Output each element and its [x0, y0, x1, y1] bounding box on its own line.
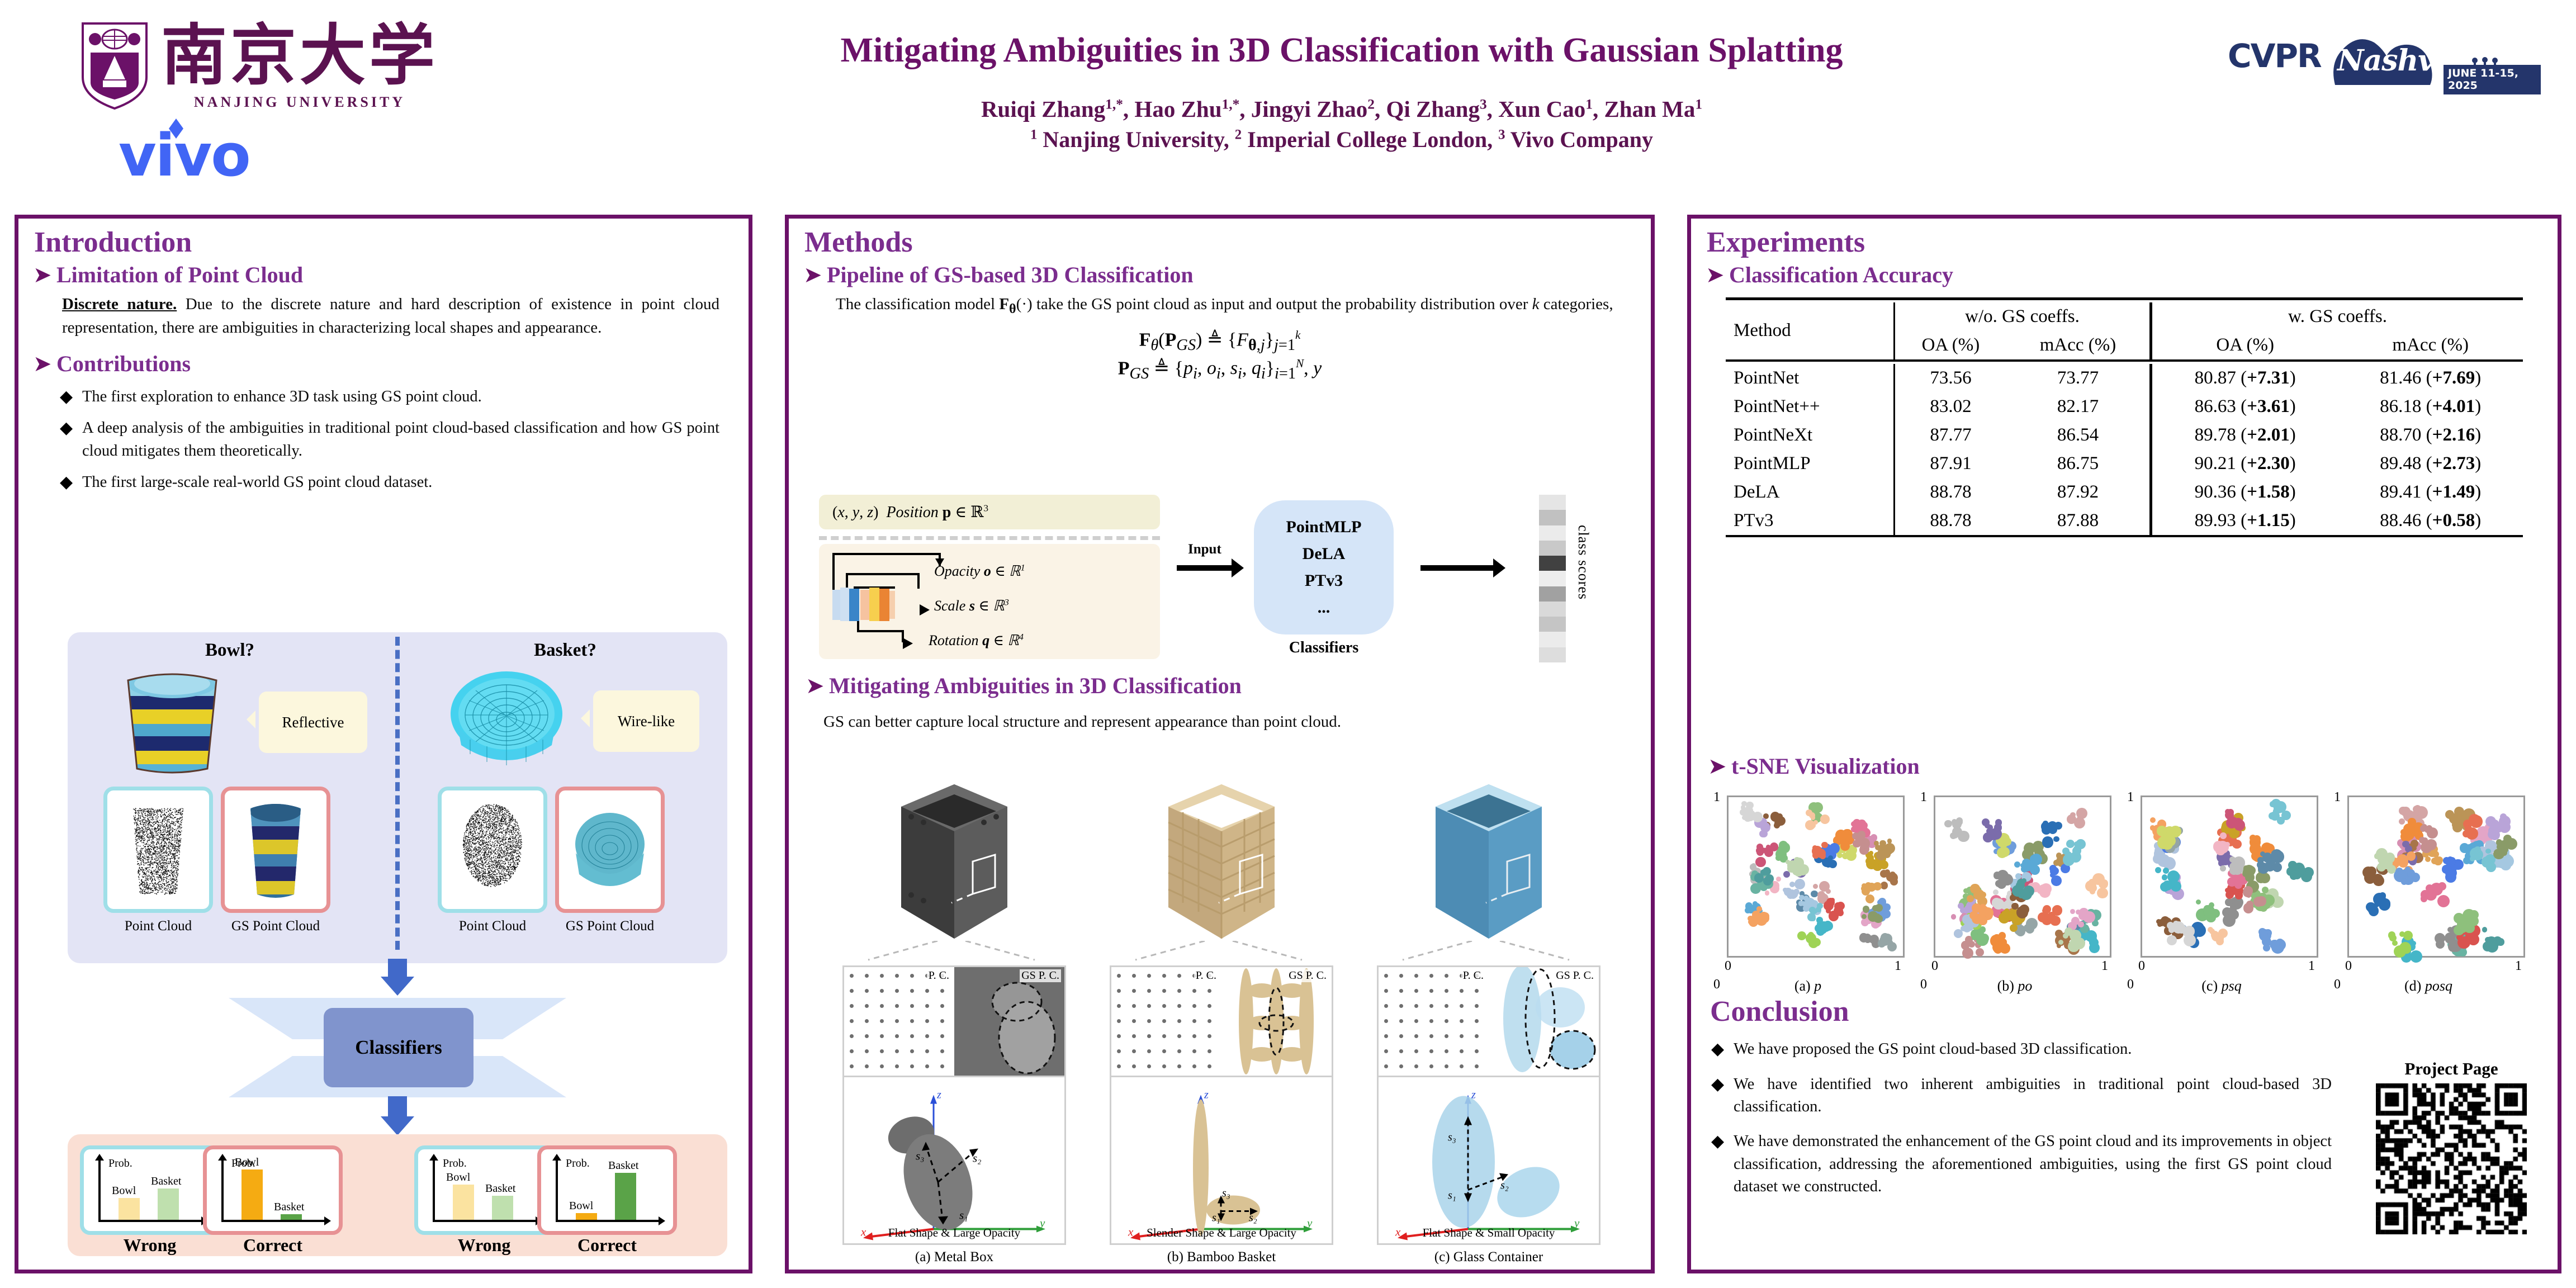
point-cloud-dot — [1162, 1049, 1166, 1053]
poster-root: 南京大学 NANJING UNIVERSITY vivo Mitigating … — [0, 0, 2576, 1288]
point-cloud-dot — [880, 1004, 884, 1008]
tsne-cluster-point — [1874, 915, 1883, 924]
tsne-cluster-point — [2425, 856, 2431, 862]
tsne-cluster-point — [1871, 883, 1876, 888]
subheading-limitation: ➤ Limitation of Point Cloud — [33, 263, 736, 288]
table-header-macc-wo: mAcc (%) — [2006, 331, 2151, 361]
tsne-plot-area — [1934, 795, 2111, 958]
conclusion-list: ◆ We have proposed the GS point cloud-ba… — [1700, 1035, 2337, 1199]
point-cloud-dot — [895, 1019, 899, 1023]
tsne-cluster-point — [2485, 849, 2491, 854]
point-cloud-dot — [1384, 1019, 1388, 1023]
table-header-oa-wo: OA (%) — [1894, 331, 2006, 361]
point-cloud-dot — [940, 1064, 944, 1068]
class-scores-label: class scores — [1575, 525, 1592, 600]
cell-macc-with: 86.18 (+4.01) — [2338, 392, 2523, 421]
conclusion-text: We have identified two inherent ambiguit… — [1734, 1073, 2332, 1119]
tsne-cluster-point — [1745, 907, 1751, 913]
cell-method: PointNet — [1726, 364, 1894, 392]
tsne-cluster-point — [1786, 860, 1790, 864]
prediction-bar-label: Basket — [485, 1182, 515, 1195]
cell-method: PointNeXt — [1726, 421, 1894, 449]
prob-axis-label: Prob. — [566, 1157, 590, 1170]
cvpr-date-badge: JUNE 11-15, 2025 — [2444, 65, 2541, 94]
table-row: DeLA88.7887.9290.36 (+1.58)89.41 (+1.49) — [1726, 478, 2523, 506]
point-cloud-dot — [1384, 989, 1388, 993]
tsne-cluster-point — [2493, 849, 2504, 860]
classifiers-stack: PointMLP DeLA PTv3 ... — [1254, 500, 1394, 634]
tsne-cluster-point — [1780, 842, 1791, 853]
tsne-x-min-tick: 0 — [2138, 959, 2145, 974]
glass-container-image — [1424, 778, 1553, 945]
point-cloud-dot — [1192, 1034, 1196, 1038]
tsne-cluster-point — [2014, 861, 2020, 868]
class-score-cell — [1539, 647, 1566, 662]
point-cloud-dot — [910, 1064, 914, 1068]
prediction-verdict: Wrong — [414, 1235, 554, 1256]
arrow-bullet-icon: ➤ — [33, 353, 56, 375]
point-cloud-dot — [895, 974, 899, 978]
project-page-qr-code[interactable] — [2376, 1083, 2527, 1234]
tsne-cluster-point — [1741, 805, 1745, 809]
metal-box-image — [890, 778, 1019, 945]
bowl-gs-point-cloud-box — [221, 787, 330, 913]
point-cloud-dot — [850, 1064, 854, 1068]
bowl-point-cloud-box — [103, 787, 213, 913]
point-cloud-dot — [1429, 1019, 1433, 1023]
point-cloud-dot — [1445, 974, 1448, 978]
point-cloud-dot — [1429, 1004, 1433, 1008]
tsne-cluster-point — [1874, 841, 1878, 845]
cell-oa-without: 87.77 — [1894, 421, 2006, 449]
tsne-y-max-tick: 1 — [1920, 790, 1927, 805]
tsne-cluster-point — [2499, 821, 2511, 833]
tsne-cluster-point — [2438, 882, 2446, 891]
tsne-cluster-point — [1886, 873, 1895, 882]
tsne-cluster-point — [2482, 927, 2487, 932]
point-cloud-dot — [1177, 1034, 1181, 1038]
point-cloud-panel: P. C. — [1379, 967, 1489, 1076]
pc-tag-label: P. C. — [1194, 969, 1218, 982]
glass-container-caption: (c) Glass Container — [1377, 1249, 1600, 1265]
object-example-glass-container: P. C. GS P. C. — [1371, 778, 1606, 1265]
list-item: ◆ We have identified two inherent ambigu… — [1711, 1073, 2332, 1119]
point-cloud-dot — [1399, 974, 1403, 978]
class-score-cell — [1539, 632, 1566, 647]
tsne-cluster-point — [2089, 943, 2100, 953]
cell-oa-with: 90.21 (+2.30) — [2151, 449, 2338, 478]
point-cloud-dot — [910, 1049, 914, 1053]
tsne-cluster-point — [2489, 830, 2500, 840]
tsne-cluster-point — [2486, 862, 2496, 872]
point-cloud-dot — [1117, 1019, 1121, 1023]
tsne-cluster-point — [1853, 840, 1860, 847]
table-row: PointMLP87.9186.7590.21 (+2.30)89.48 (+2… — [1726, 449, 2523, 478]
tsne-cluster-point — [1756, 847, 1762, 854]
tsne-cluster-point — [2474, 846, 2480, 853]
point-cloud-dot — [1475, 1019, 1479, 1023]
flow-arrow-shaft — [388, 1096, 407, 1119]
cvpr-wordmark: CVPR — [2228, 37, 2321, 75]
diamond-bullet-icon: ◆ — [1711, 1130, 1734, 1153]
table-header-method: Method — [1726, 302, 1894, 361]
tsne-cluster-point — [1799, 895, 1804, 900]
point-cloud-dot — [1117, 1034, 1121, 1038]
tsne-x-max-tick: 1 — [2101, 959, 2108, 974]
tsne-cluster-point — [1993, 898, 2004, 910]
tsne-cluster-point — [1765, 891, 1769, 895]
point-cloud-dot — [1192, 1004, 1196, 1008]
tsne-cluster-point — [1763, 867, 1771, 875]
prediction-bar — [576, 1213, 597, 1220]
caption-gs-point-cloud: GS Point Cloud — [550, 918, 670, 934]
tsne-cluster-point — [2070, 930, 2081, 941]
point-cloud-dot — [1445, 1019, 1448, 1023]
arrow-bullet-icon: ➤ — [806, 675, 829, 697]
caption-point-cloud: Point Cloud — [98, 918, 219, 934]
tsne-cluster-point — [1944, 820, 1952, 828]
list-item: ◆ The first exploration to enhance 3D ta… — [60, 386, 719, 409]
point-cloud-dot — [850, 1049, 854, 1053]
tsne-cluster-point — [1862, 887, 1870, 895]
tsne-cluster-point — [2246, 901, 2253, 908]
point-cloud-dot — [1117, 1004, 1121, 1008]
equation-gs-set: PGS ≜ {pi, oi, si, qi}i=1N, y — [801, 357, 1639, 383]
prediction-chart: Prob.BowlBasket — [537, 1145, 677, 1235]
tsne-x-max-tick: 1 — [1895, 959, 1901, 974]
glass-container-gaussian-diagram: s₃ s₂ s₁ y z x Flat Shape & Small Opacit… — [1377, 1077, 1600, 1245]
metal-box-gaussian-diagram: s₃ s₂ s₁ y z x Flat Shape & Large Opacit… — [842, 1077, 1066, 1245]
tsne-cluster-point — [2220, 832, 2227, 839]
point-cloud-dot — [940, 1004, 944, 1008]
tsne-cluster-point — [1851, 826, 1857, 832]
tsne-plot-area — [2141, 795, 2318, 958]
point-cloud-dot — [1414, 974, 1418, 978]
experiments-title: Experiments — [1707, 228, 2545, 258]
cell-macc-without: 73.77 — [2006, 364, 2151, 392]
point-cloud-dot — [1132, 989, 1136, 993]
tsne-cluster-point — [2225, 898, 2233, 906]
opacity-attribute-label: Opacity o ∈ ℝ1 — [934, 563, 1025, 580]
arrow-bullet-icon: ➤ — [33, 264, 56, 286]
tsne-cluster-point — [1812, 802, 1824, 813]
gs-pipeline-diagram: (x, y, z) Position p ∈ ℝ3 — [819, 495, 1631, 662]
conclusion-title: Conclusion — [1710, 997, 1849, 1027]
tsne-cluster-point — [2399, 807, 2407, 815]
point-cloud-dot — [1384, 1064, 1388, 1068]
cell-macc-without: 86.54 — [2006, 421, 2151, 449]
tsne-cluster-point — [2407, 851, 2416, 861]
tsne-cluster-point — [1815, 924, 1824, 933]
prediction-bar-label: Basket — [274, 1201, 304, 1214]
nju-shield-icon — [78, 21, 151, 111]
cell-oa-with: 89.78 (+2.01) — [2151, 421, 2338, 449]
list-item: ◆ The first large-scale real-world GS po… — [60, 471, 719, 494]
prediction-chart: Prob.BowlBasket — [414, 1145, 554, 1235]
tsne-cluster-point — [2466, 827, 2478, 840]
tsne-cluster-point — [2281, 811, 2291, 820]
tsne-cluster-point — [2403, 931, 2413, 940]
point-cloud-dot — [1147, 1019, 1151, 1023]
prediction-verdict: Correct — [203, 1235, 343, 1256]
bowl-photo — [102, 667, 242, 776]
introduction-panel: Introduction ➤ Limitation of Point Cloud… — [15, 215, 752, 1273]
tsne-cluster-point — [1876, 850, 1887, 861]
point-cloud-dot — [1414, 1034, 1418, 1038]
subheading-tsne-label: t-SNE Visualization — [1731, 754, 1920, 779]
prediction-verdict: Correct — [537, 1235, 677, 1256]
point-cloud-dot — [850, 1004, 854, 1008]
class-score-cell — [1539, 571, 1566, 586]
bowl-basket-figure: Bowl? Basket? — [68, 632, 727, 1256]
bamboo-basket-caption: (b) Bamboo Basket — [1110, 1249, 1333, 1265]
tsne-cluster-point — [2448, 857, 2456, 865]
cell-macc-without: 86.75 — [2006, 449, 2151, 478]
tsne-caption: (a) p — [1710, 978, 1906, 995]
contribution-text: A deep analysis of the ambiguities in tr… — [82, 417, 719, 462]
zoom-guide-lines — [1132, 941, 1305, 961]
tsne-cluster-point — [1978, 915, 1987, 924]
tsne-cluster-point — [1759, 912, 1769, 922]
tsne-y-max-tick: 1 — [1713, 790, 1720, 805]
tsne-cluster-point — [2070, 909, 2075, 914]
position-attribute-box: (x, y, z) Position p ∈ ℝ3 — [819, 495, 1160, 529]
tsne-cluster-point — [1971, 931, 1978, 939]
point-cloud-dot — [1147, 1004, 1151, 1008]
point-cloud-dot — [880, 989, 884, 993]
tsne-cluster-point — [1983, 832, 1993, 842]
point-cloud-dot — [1429, 989, 1433, 993]
prob-axis-label: Prob. — [443, 1157, 467, 1170]
point-cloud-dot — [1147, 974, 1151, 978]
point-cloud-dot — [1132, 1064, 1136, 1068]
gs-point-cloud-panel: GS P. C. — [1489, 967, 1599, 1076]
conclusion-text: We have proposed the GS point cloud-base… — [1734, 1038, 2132, 1060]
classifier-name: DeLA — [1303, 544, 1346, 563]
point-cloud-dot — [1117, 1049, 1121, 1053]
tsne-cluster-point — [1976, 948, 1984, 956]
tsne-cluster-point — [1791, 892, 1798, 898]
point-cloud-dot — [1429, 1049, 1433, 1053]
cell-oa-without: 73.56 — [1894, 364, 2006, 392]
zoom-guide-lines — [865, 941, 1038, 961]
classifier-name: PointMLP — [1286, 518, 1362, 537]
tsne-cluster-point — [1873, 863, 1879, 869]
bamboo-basket-pc-comparison: P. C. — [1110, 965, 1333, 1077]
point-cloud-dot — [1177, 989, 1181, 993]
point-cloud-panel: P. C. — [844, 967, 954, 1076]
subheading-pipeline-label: Pipeline of GS-based 3D Classification — [827, 263, 1194, 288]
prediction-verdict: Wrong — [80, 1235, 220, 1256]
bowl-question-label: Bowl? — [68, 640, 392, 661]
point-cloud-dot — [1162, 1064, 1166, 1068]
tsne-cluster-point — [1789, 882, 1795, 887]
tsne-cluster-point — [1824, 921, 1833, 931]
output-arrow-shaft — [1420, 565, 1494, 571]
tsne-cluster-point — [1770, 812, 1781, 822]
author-list: Ruiqi Zhang1,*, Hao Zhu1,*, Jingyi Zhao2… — [559, 95, 2124, 124]
introduction-title: Introduction — [34, 228, 736, 258]
flow-arrow-head-icon — [381, 1116, 414, 1135]
class-score-cell — [1539, 617, 1566, 632]
point-cloud-dot — [880, 1019, 884, 1023]
tsne-cluster-point — [1794, 879, 1805, 889]
caption-gs-point-cloud: GS Point Cloud — [215, 918, 336, 934]
pc-tag-label: P. C. — [1461, 969, 1485, 982]
point-cloud-dot — [1207, 989, 1211, 993]
metal-box-caption: (a) Metal Box — [842, 1249, 1066, 1265]
tsne-cluster-point — [2445, 810, 2454, 819]
tsne-cluster-point — [1999, 847, 2010, 858]
point-cloud-dot — [910, 1034, 914, 1038]
subheading-classification-accuracy: ➤ Classification Accuracy — [1706, 263, 2545, 288]
cell-oa-without: 83.02 — [1894, 392, 2006, 421]
tsne-cluster-point — [1755, 857, 1766, 868]
vivo-logo: vivo — [119, 126, 309, 193]
tsne-cluster-point — [1993, 889, 1999, 895]
tsne-cluster-point — [2078, 921, 2084, 927]
gs-point-cloud-panel: GS P. C. — [1221, 967, 1332, 1076]
tsne-cluster-point — [2090, 889, 2095, 894]
point-cloud-dot — [940, 1049, 944, 1053]
point-cloud-dot — [1177, 1004, 1181, 1008]
cell-oa-with: 89.93 (+1.15) — [2151, 506, 2338, 536]
prediction-bar — [158, 1188, 179, 1220]
tsne-cluster-point — [2469, 910, 2479, 920]
cell-macc-with: 81.46 (+7.69) — [2338, 364, 2523, 392]
point-cloud-dot — [940, 989, 944, 993]
tsne-cluster-point — [1754, 873, 1763, 882]
point-cloud-dot — [865, 1034, 869, 1038]
tsne-cluster-point — [1952, 832, 1959, 839]
tsne-x-min-tick: 0 — [1725, 959, 1731, 974]
point-cloud-dot — [940, 1019, 944, 1023]
tsne-cluster-point — [2042, 836, 2054, 848]
tsne-cluster-point — [2257, 857, 2264, 864]
tsne-cluster-point — [2220, 865, 2226, 872]
cell-oa-without: 87.91 — [1894, 449, 2006, 478]
tsne-cluster-point — [2218, 929, 2228, 938]
point-cloud-dot — [1414, 1049, 1418, 1053]
diamond-bullet-icon: ◆ — [60, 471, 82, 494]
point-cloud-dot — [1384, 1049, 1388, 1053]
point-cloud-dot — [1177, 1019, 1181, 1023]
tsne-cluster-point — [2053, 836, 2059, 842]
point-cloud-dot — [1132, 974, 1136, 978]
point-cloud-dot — [1475, 1004, 1479, 1008]
point-cloud-dot — [1132, 1019, 1136, 1023]
class-score-cell — [1539, 586, 1566, 602]
subheading-pipeline: ➤ Pipeline of GS-based 3D Classification — [803, 263, 1639, 288]
point-cloud-dot — [1162, 989, 1166, 993]
tsne-cluster-point — [1826, 889, 1831, 894]
tsne-cluster-point — [2097, 888, 2108, 899]
point-cloud-dot — [865, 1004, 869, 1008]
bamboo-basket-gaussian-diagram: s₃ s₂ s₁ y z x Slender Shape & Large Opa… — [1110, 1077, 1333, 1245]
prediction-chart: Prob.BowlBasket — [203, 1145, 343, 1235]
point-cloud-dot — [925, 1019, 929, 1023]
tsne-cluster-point — [2470, 815, 2483, 828]
table-row: PointNet++83.0282.1786.63 (+3.61)86.18 (… — [1726, 392, 2523, 421]
tsne-cluster-point — [1828, 855, 1833, 860]
point-cloud-dot — [865, 1049, 869, 1053]
object-example-metal-box: P. C. GS P. C. — [837, 778, 1072, 1265]
classifier-name: ... — [1318, 598, 1330, 617]
gs-pc-tag-label: GS P. C. — [1554, 969, 1595, 982]
arrow-bullet-icon: ➤ — [1708, 755, 1731, 778]
prob-axis-label: Prob. — [108, 1157, 132, 1170]
tsne-cluster-point — [1810, 940, 1816, 945]
tsne-cluster-point — [2049, 865, 2057, 872]
tsne-cluster-point — [1969, 911, 1978, 920]
tsne-cluster-point — [1800, 868, 1804, 872]
object-examples-row: P. C. GS P. C. — [837, 778, 1614, 1258]
class-score-cell — [1539, 525, 1566, 541]
tsne-cluster-point — [1829, 860, 1837, 868]
flow-arrow-shaft — [388, 959, 407, 979]
class-score-cell — [1539, 510, 1566, 525]
subheading-mitigating: ➤ Mitigating Ambiguities in 3D Classific… — [806, 674, 1611, 699]
point-cloud-dot — [895, 1049, 899, 1053]
table-row: PTv388.7887.8889.93 (+1.15)88.46 (+0.58) — [1726, 506, 2523, 536]
prediction-bar — [492, 1196, 513, 1220]
point-cloud-dot — [1399, 1049, 1403, 1053]
tsne-cluster-point — [1963, 924, 1972, 932]
tsne-cluster-point — [1810, 916, 1815, 921]
tsne-cluster-point — [2470, 856, 2475, 861]
nju-english-name: NANJING UNIVERSITY — [194, 94, 405, 111]
point-cloud-dot — [1147, 1064, 1151, 1068]
tsne-cluster-point — [2250, 843, 2261, 855]
project-page-block[interactable]: Project Page — [2367, 1059, 2535, 1237]
tsne-cluster-point — [1842, 844, 1847, 849]
point-cloud-dot — [1207, 1034, 1211, 1038]
experiments-panel: Experiments ➤ Classification Accuracy Me… — [1687, 215, 2561, 1273]
class-score-cell — [1539, 495, 1566, 510]
classifiers-label: Classifiers — [355, 1036, 442, 1059]
point-cloud-dot — [1162, 1019, 1166, 1023]
tsne-x-max-tick: 1 — [2515, 959, 2522, 974]
list-item: ◆ We have demonstrated the enhancement o… — [1711, 1130, 2332, 1198]
basket-question-label: Basket? — [403, 640, 727, 661]
object-example-bamboo-basket: P. C. — [1104, 778, 1339, 1265]
classification-accuracy-table: Methodw/o. GS coeffs.w. GS coeffs.OA (%)… — [1726, 297, 2523, 539]
vivo-wordmark: vivo — [119, 126, 309, 184]
tsne-cluster-point — [1865, 894, 1875, 904]
cell-macc-with: 88.70 (+2.16) — [2338, 421, 2523, 449]
tsne-cluster-point — [2374, 853, 2380, 859]
point-cloud-dot — [1445, 1049, 1448, 1053]
diamond-bullet-icon: ◆ — [60, 417, 82, 440]
point-cloud-dot — [895, 1034, 899, 1038]
tsne-cluster-point — [1811, 891, 1818, 898]
metal-box-shape-note: Flat Shape & Large Opacity — [844, 1226, 1064, 1240]
point-cloud-dot — [850, 989, 854, 993]
tsne-cluster-point — [2039, 887, 2051, 898]
contribution-text: The first large-scale real-world GS poin… — [82, 471, 432, 494]
list-item: ◆ A deep analysis of the ambiguities in … — [60, 417, 719, 462]
tsne-y-max-tick: 1 — [2127, 790, 2134, 805]
point-cloud-dot — [865, 974, 869, 978]
diamond-bullet-icon: ◆ — [60, 386, 82, 409]
class-score-cell — [1539, 602, 1566, 617]
prediction-bar-label: Bowl — [112, 1185, 136, 1197]
prediction-bar-label: Bowl — [446, 1171, 470, 1184]
prediction-bar-label: Bowl — [235, 1156, 259, 1169]
tsne-cluster-point — [2183, 930, 2189, 936]
point-cloud-panel: P. C. — [1111, 967, 1221, 1076]
tsne-cluster-point — [2436, 940, 2445, 949]
